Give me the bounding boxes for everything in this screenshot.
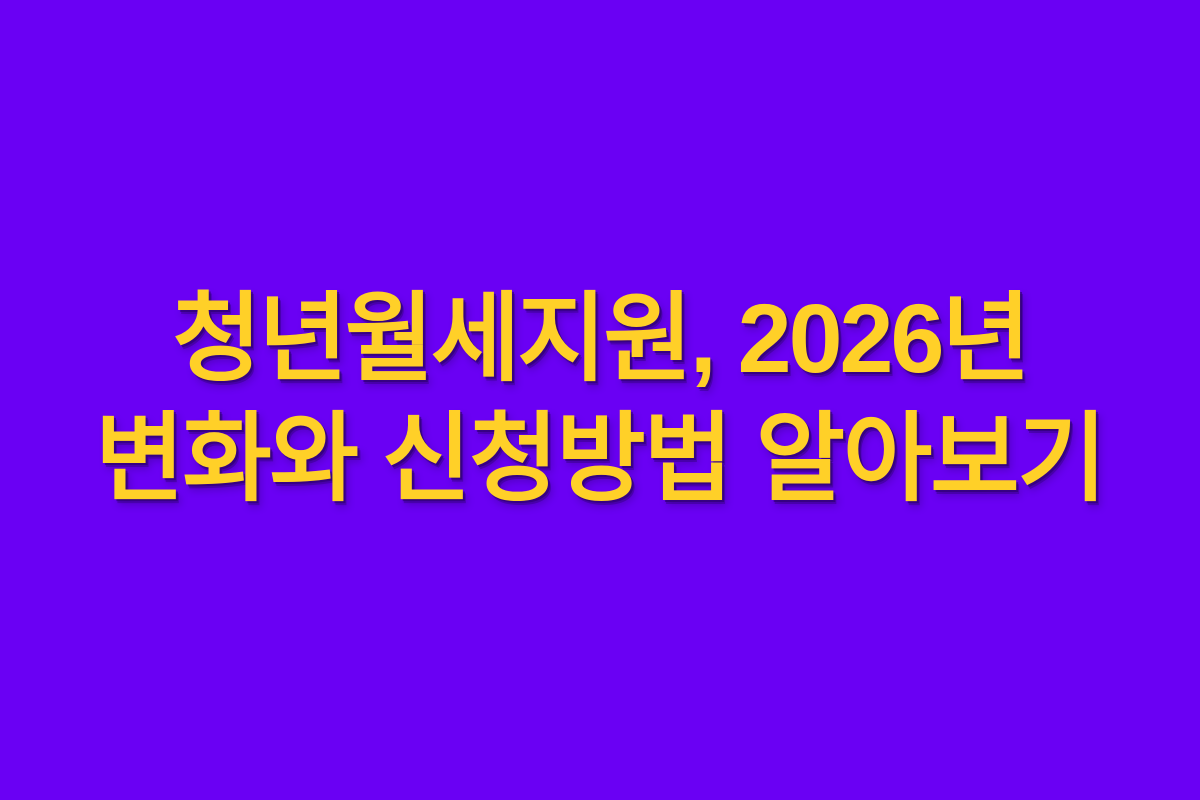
title-block: 청년월세지원, 2026년 변화와 신청방법 알아보기: [0, 279, 1200, 519]
thumbnail-card: 청년월세지원, 2026년 변화와 신청방법 알아보기: [0, 0, 1200, 800]
title-line-2: 변화와 신청방법 알아보기: [10, 399, 1190, 519]
title-line-1: 청년월세지원, 2026년: [10, 279, 1190, 399]
